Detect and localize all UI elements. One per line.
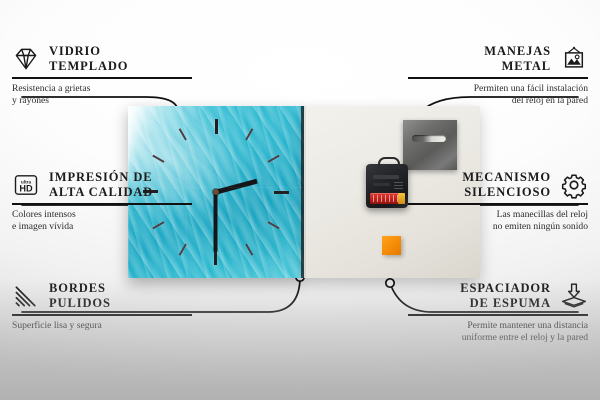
feature-rule [12, 77, 192, 79]
feature-subtitle: Permiten una fácil instalación del reloj… [408, 83, 588, 108]
feature-mecanismo-silencioso: MECANISMO SILENCIOSO Las manecillas del … [408, 170, 588, 233]
quartz-mechanism [366, 164, 408, 208]
feature-vidrio-templado: VIDRIO TEMPLADO Resistencia a grietas y … [12, 44, 192, 107]
feature-header: BORDES PULIDOS [12, 281, 192, 310]
feature-impresion-alta-calidad: ultra HD IMPRESIÓN DE ALTA CALIDAD Color… [12, 170, 192, 233]
feature-subtitle: Superficie lisa y segura [12, 320, 192, 332]
leader-dot-espaciador [386, 279, 394, 287]
ultra-hd-icon: ultra HD [12, 171, 40, 199]
clock-center-hub [213, 189, 219, 195]
feature-title: MANEJAS METAL [484, 44, 551, 73]
mechanism-bar-secondary [373, 183, 390, 186]
feature-subtitle: Resistencia a grietas y rayones [12, 83, 192, 108]
feature-subtitle: Permite mantener una distancia uniforme … [408, 320, 588, 345]
feature-header: ultra HD IMPRESIÓN DE ALTA CALIDAD [12, 170, 192, 199]
feature-manejas-metal: MANEJAS METAL Permiten una fácil instala… [408, 44, 588, 107]
feature-title: ESPACIADOR DE ESPUMA [460, 281, 551, 310]
feature-subtitle: Colores intensos e imagen vívida [12, 209, 192, 234]
hanger-slot [412, 135, 446, 142]
feature-title: IMPRESIÓN DE ALTA CALIDAD [49, 170, 153, 199]
mechanism-hook [378, 157, 400, 169]
metal-hanger-plate [403, 120, 457, 170]
feature-title: VIDRIO TEMPLADO [49, 44, 128, 73]
mechanism-bar [373, 175, 399, 179]
foam-spacer [382, 236, 401, 255]
feature-rule [12, 314, 192, 316]
feature-rule [408, 77, 588, 79]
diamond-icon [12, 45, 40, 73]
foam-spacer-icon [560, 282, 588, 310]
feature-header: VIDRIO TEMPLADO [12, 44, 192, 73]
polished-edges-icon [12, 282, 40, 310]
feature-title: BORDES PULIDOS [49, 281, 111, 310]
feature-header: MECANISMO SILENCIOSO [408, 170, 588, 199]
feature-subtitle: Las manecillas del reloj no emiten ningú… [408, 209, 588, 234]
mechanism-vents [394, 182, 403, 190]
feature-header: MANEJAS METAL [408, 44, 588, 73]
battery-terminal [398, 193, 405, 204]
feature-rule [12, 203, 192, 205]
aa-battery [370, 193, 401, 204]
feature-title: MECANISMO SILENCIOSO [462, 170, 551, 199]
feature-rule [408, 203, 588, 205]
svg-text:HD: HD [19, 183, 33, 193]
feature-header: ESPACIADOR DE ESPUMA [408, 281, 588, 310]
picture-hanger-icon [560, 45, 588, 73]
feature-bordes-pulidos: BORDES PULIDOS Superficie lisa y segura [12, 281, 192, 332]
feature-espaciador-espuma: ESPACIADOR DE ESPUMA Permite mantener un… [408, 281, 588, 344]
infographic-canvas: VIDRIO TEMPLADO Resistencia a grietas y … [0, 0, 600, 400]
feature-rule [408, 314, 588, 316]
clock-minute-hand [214, 192, 218, 252]
gear-icon [560, 171, 588, 199]
